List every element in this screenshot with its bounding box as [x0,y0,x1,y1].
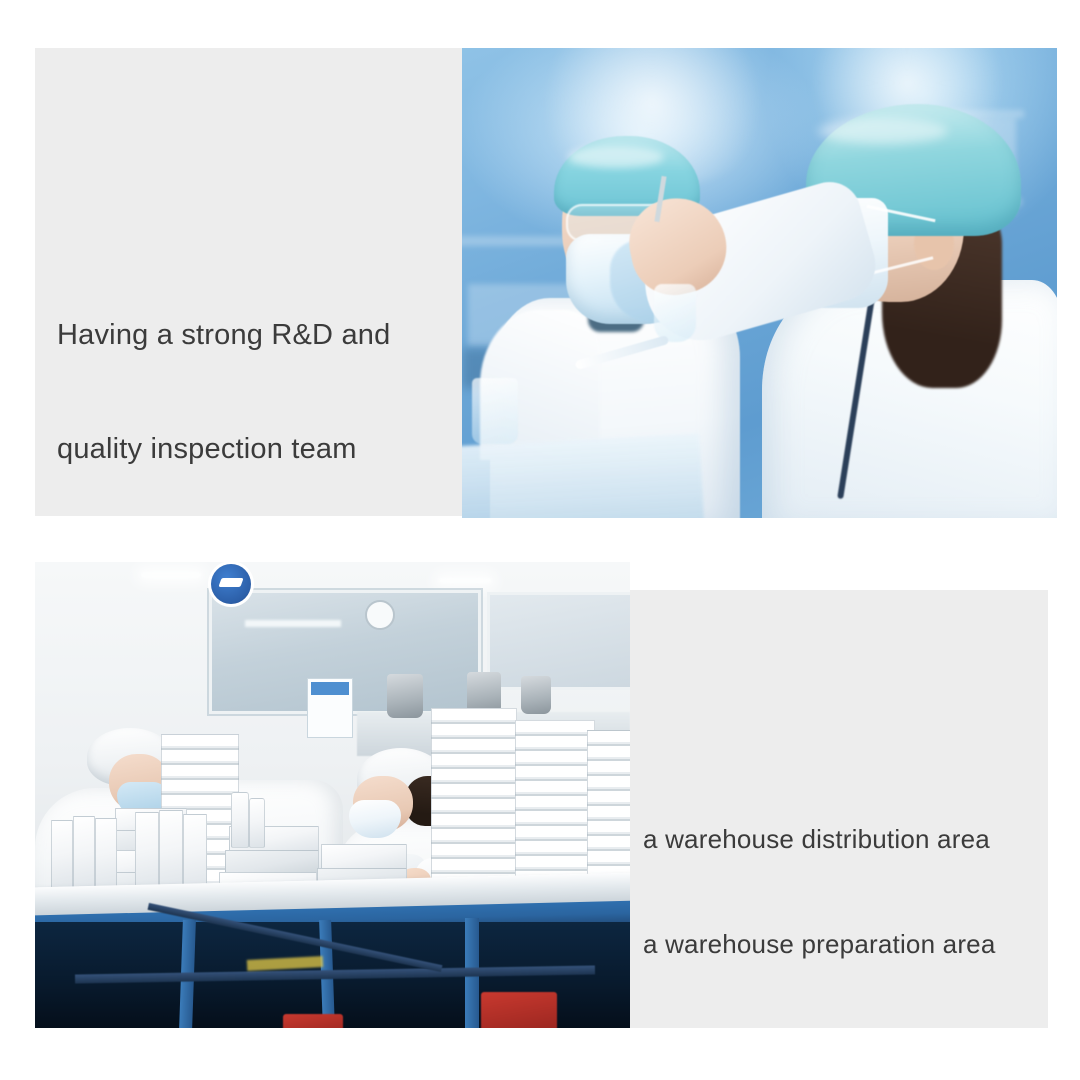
interior-window-light [245,620,341,627]
top-caption-line-1: Having a strong R&D and [57,316,390,354]
interior-window-2 [487,592,630,690]
blue-circular-safety-sign [211,564,251,604]
sample-vial [654,284,696,342]
product-bottle-1 [231,792,249,848]
upright-carton-3 [95,818,117,894]
bottom-caption-line-1: a warehouse distribution area [643,822,996,857]
worker-3-face-mask [349,800,401,838]
carton-stack-right-1 [431,708,517,882]
bottom-caption-line-2: a warehouse preparation area [643,927,996,962]
wall-clock [365,600,395,630]
technician-left-hairnet-highlight [568,146,664,168]
wall-notice-board [307,678,353,738]
beaker-glassware [472,378,518,444]
upright-carton-1 [51,820,73,894]
top-caption: Having a strong R&D and quality inspecti… [57,240,390,506]
stainless-pot-1 [387,674,423,718]
warehouse-packing-photo [35,562,630,1028]
rd-quality-inspection-photo [462,48,1057,518]
carton-stack-right-3 [587,730,630,882]
upright-carton-2 [73,816,95,894]
upright-carton-4 [135,812,159,894]
upright-carton-6 [183,814,207,894]
ceiling-light-1 [141,572,201,578]
carton-stack-right-2 [515,720,595,882]
top-caption-line-2: quality inspection team [57,430,390,468]
lab-bench [462,434,704,518]
ceiling-light-3 [439,578,491,583]
stainless-pot-3 [521,676,551,714]
red-bin [481,992,557,1028]
technician-right-hairnet-highlight [818,118,948,144]
upright-carton-5 [159,810,183,894]
product-bottle-2 [249,798,265,848]
bottom-caption: a warehouse distribution area a warehous… [643,752,996,997]
red-bin-2 [283,1014,343,1028]
